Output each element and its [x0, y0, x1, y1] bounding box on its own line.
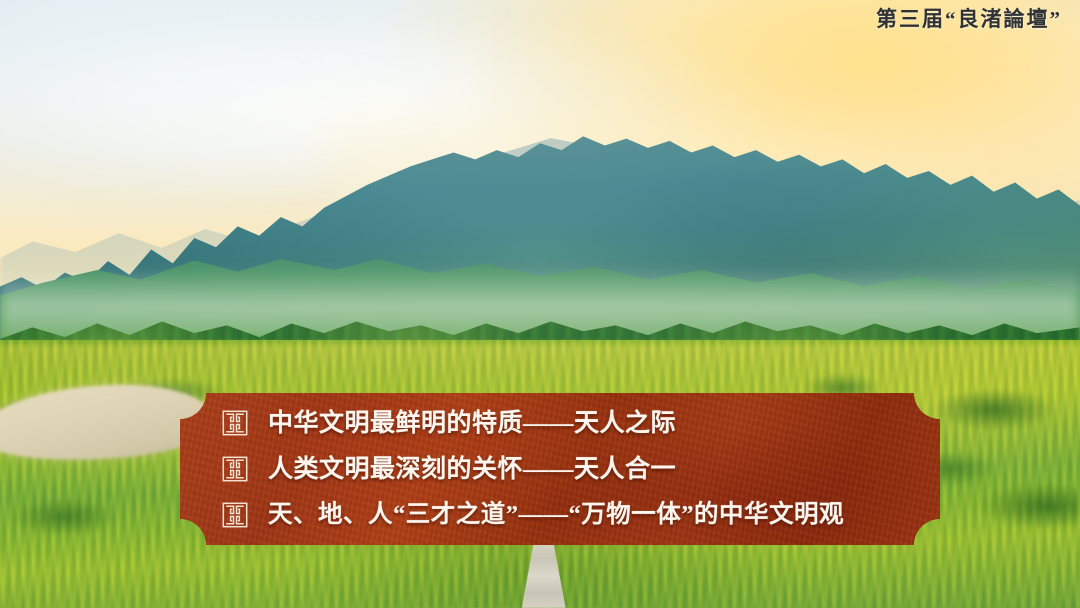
statement-text: 中华文明最鲜明的特质——天人之际 [268, 411, 676, 436]
statement-text: 天、地、人“三才之道”——“万物一体”的中华文明观 [268, 503, 844, 528]
statement-banner: 中华文明最鲜明的特质——天人之际 人类文明最深刻的关怀——天人合一 [180, 393, 940, 545]
slide-canvas: 第三届“良渚論壇” 中华文明最鲜明的特质——天人之际 [0, 0, 1080, 608]
statement-row: 天、地、人“三才之道”——“万物一体”的中华文明观 [222, 495, 940, 535]
statement-row: 人类文明最深刻的关怀——天人合一 [222, 449, 940, 489]
meander-square-ornament-icon [222, 502, 248, 528]
meander-square-ornament-icon [222, 456, 248, 482]
statement-list: 中华文明最鲜明的特质——天人之际 人类文明最深刻的关怀——天人合一 [180, 393, 940, 545]
forum-wordmark: 第三届“良渚論壇” [876, 9, 1062, 30]
statement-row: 中华文明最鲜明的特质——天人之际 [222, 403, 940, 443]
statement-text: 人类文明最深刻的关怀——天人合一 [268, 457, 676, 482]
meander-square-ornament-icon [222, 410, 248, 436]
